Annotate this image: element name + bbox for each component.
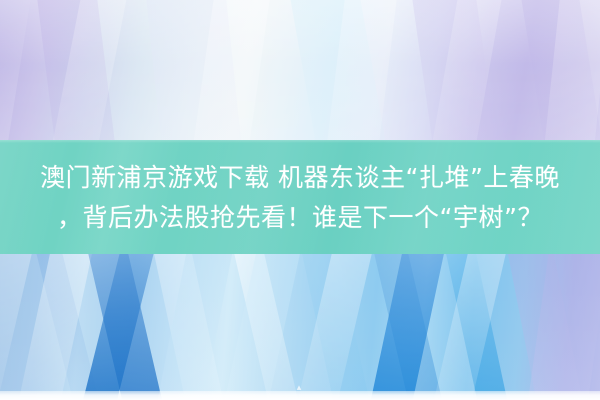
watermark-icon: ▴ <box>292 383 306 392</box>
headline-line-1: 澳门新浦京游戏下载 机器东谈主“扎堆”上春晚 <box>40 159 560 197</box>
headline-line-2: ，背后办法股抢先看！谁是下一个“宇树”？ <box>57 199 543 237</box>
headline-text-block: 澳门新浦京游戏下载 机器东谈主“扎堆”上春晚 ，背后办法股抢先看！谁是下一个“宇… <box>0 140 600 256</box>
top-diagonal-bands <box>0 0 600 142</box>
bottom-white-strip <box>0 391 600 400</box>
bottom-gradient-background <box>0 254 600 400</box>
promo-banner: 澳门新浦京游戏下载 机器东谈主“扎堆”上春晚 ，背后办法股抢先看！谁是下一个“宇… <box>0 0 600 400</box>
